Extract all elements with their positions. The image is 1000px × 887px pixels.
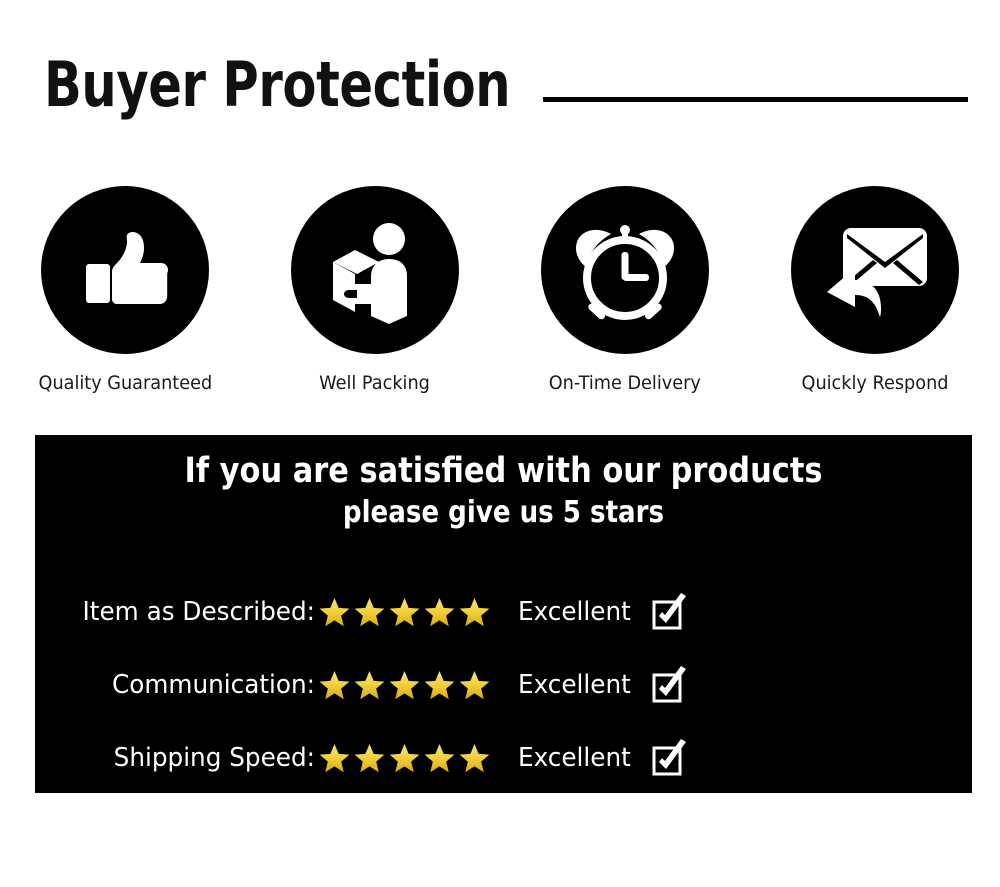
panel-headline-line1: If you are satisfied with our products [96,449,911,493]
feature-icon-badge [541,186,709,354]
star-rating [319,597,509,627]
thumbs-up-icon [71,216,179,324]
checkbox-checked-icon [650,738,690,778]
feature-label: Quality Guaranteed [38,372,212,394]
star-icon [354,670,385,700]
star-icon [354,743,385,773]
feature-icon-badge [41,186,209,354]
header: Buyer Protection [0,0,1000,150]
alarm-clock-icon [567,212,683,328]
star-icon [354,597,385,627]
star-icon [319,670,350,700]
rating-label: Shipping Speed: [49,743,315,773]
page-title: Buyer Protection [44,54,510,116]
rating-verdict: Excellent [518,743,631,773]
panel-headline-line2: please give us 5 stars [96,493,911,533]
feature-item-well-packing: Well Packing [250,186,500,406]
rating-label: Communication: [49,670,315,700]
rating-label: Item as Described: [49,597,315,627]
envelope-reply-icon [817,214,933,326]
star-icon [459,743,490,773]
star-icon [424,743,455,773]
rating-checkbox[interactable] [650,738,690,778]
rating-row: Item as Described: Excellent [35,575,695,648]
feature-item-on-time-delivery: On-Time Delivery [500,186,750,406]
star-icon [389,743,420,773]
rating-row: Communication: Excellent [35,648,695,721]
feature-item-quickly-respond: Quickly Respond [750,186,1000,406]
checkbox-checked-icon [650,592,690,632]
feature-list: Quality Guaranteed [0,186,1000,406]
star-icon [319,597,350,627]
star-icon [459,597,490,627]
rating-checkbox[interactable] [650,592,690,632]
feature-label: On-Time Delivery [549,372,701,394]
checkbox-checked-icon [650,665,690,705]
rating-verdict: Excellent [518,670,631,700]
star-icon [389,670,420,700]
title-rule [543,97,968,102]
feature-label: Well Packing [320,372,431,394]
star-icon [459,670,490,700]
star-icon [319,743,350,773]
feature-item-quality-guaranteed: Quality Guaranteed [0,186,250,406]
star-rating [319,743,509,773]
rating-verdict: Excellent [518,597,631,627]
rating-row: Shipping Speed: Excellent [35,721,695,793]
star-icon [424,670,455,700]
feature-icon-badge [291,186,459,354]
star-icon [389,597,420,627]
panel-headline: If you are satisfied with our products p… [35,449,972,533]
rating-checkbox[interactable] [650,665,690,705]
feature-icon-badge [791,186,959,354]
star-rating [319,670,509,700]
star-icon [424,597,455,627]
feature-label: Quickly Respond [802,372,949,394]
package-person-icon [319,214,431,326]
review-panel: If you are satisfied with our products p… [35,435,972,793]
rating-row-list: Item as Described: Excellent Communicati… [35,575,695,793]
